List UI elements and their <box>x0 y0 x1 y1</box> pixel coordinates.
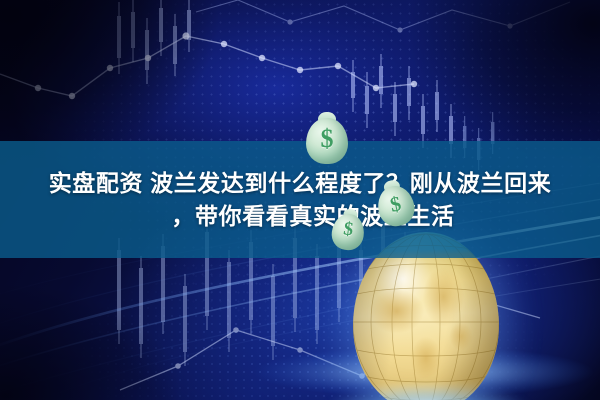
globe-glow <box>283 374 573 400</box>
headline-text-block: 实盘配资 波兰发达到什么程度了？刚从波兰回来 ，带你看看真实的波兰生活 <box>0 141 600 258</box>
money-bag-1: $ <box>306 118 348 164</box>
banner-image: $ $ $ 实盘配资 波兰发达到什么程度了？刚从波兰回来 ，带你看看真实的波兰生… <box>0 0 600 400</box>
headline-line-1: 实盘配资 波兰发达到什么程度了？刚从波兰回来 <box>49 168 552 198</box>
money-bag-3: $ <box>330 212 367 252</box>
dollar-sign-icon: $ <box>331 217 366 243</box>
dollar-sign-icon: $ <box>306 124 348 154</box>
